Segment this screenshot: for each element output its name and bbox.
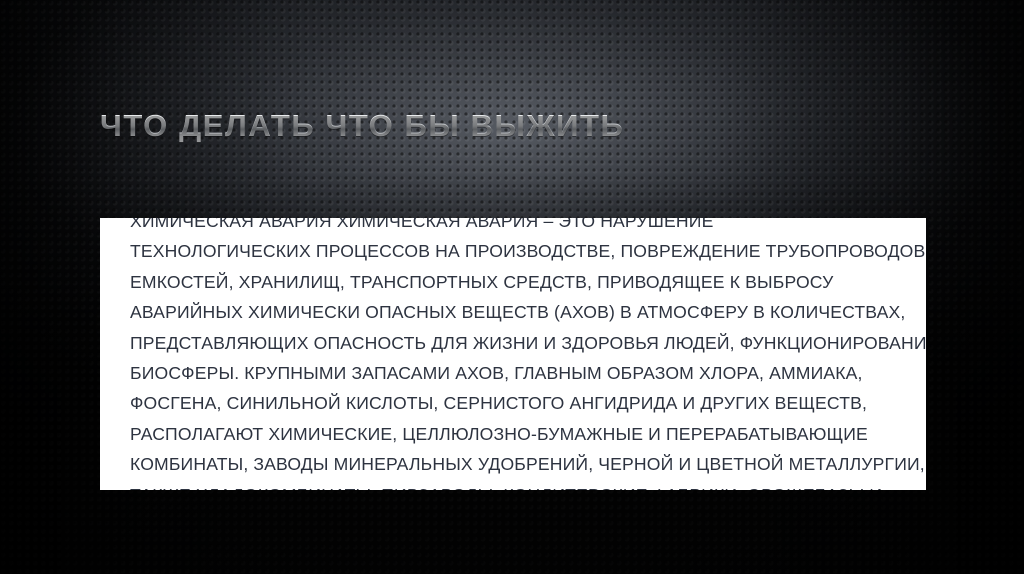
content-text-lines: Химическая авария Химическая авария – эт… <box>130 218 898 490</box>
body-line: биосферы. Крупными запасами АХОВ, главны… <box>130 358 898 388</box>
body-line: фосгена, синильной кислоты, сернистого а… <box>130 388 898 418</box>
content-text-box: Химическая авария Химическая авария – эт… <box>100 218 926 490</box>
body-line: технологических процессов на производств… <box>130 236 898 266</box>
body-line: аварийных химически опасных веществ (АХО… <box>130 297 898 327</box>
presentation-slide: Что делать что бы выжить Химическая авар… <box>0 0 1024 574</box>
body-line: представляющих опасность для жизни и здо… <box>130 328 898 358</box>
slide-title: Что делать что бы выжить <box>100 106 920 146</box>
body-line: комбинаты, заводы минеральных удобрений,… <box>130 449 898 479</box>
body-line: емкостей, хранилищ, транспортных средств… <box>130 267 898 297</box>
body-line: также хладокомбинаты, пивзаводы, кондите… <box>130 480 898 490</box>
body-line: Химическая авария Химическая авария – эт… <box>130 218 898 236</box>
body-line: располагают химические, целлюлозно-бумаж… <box>130 419 898 449</box>
